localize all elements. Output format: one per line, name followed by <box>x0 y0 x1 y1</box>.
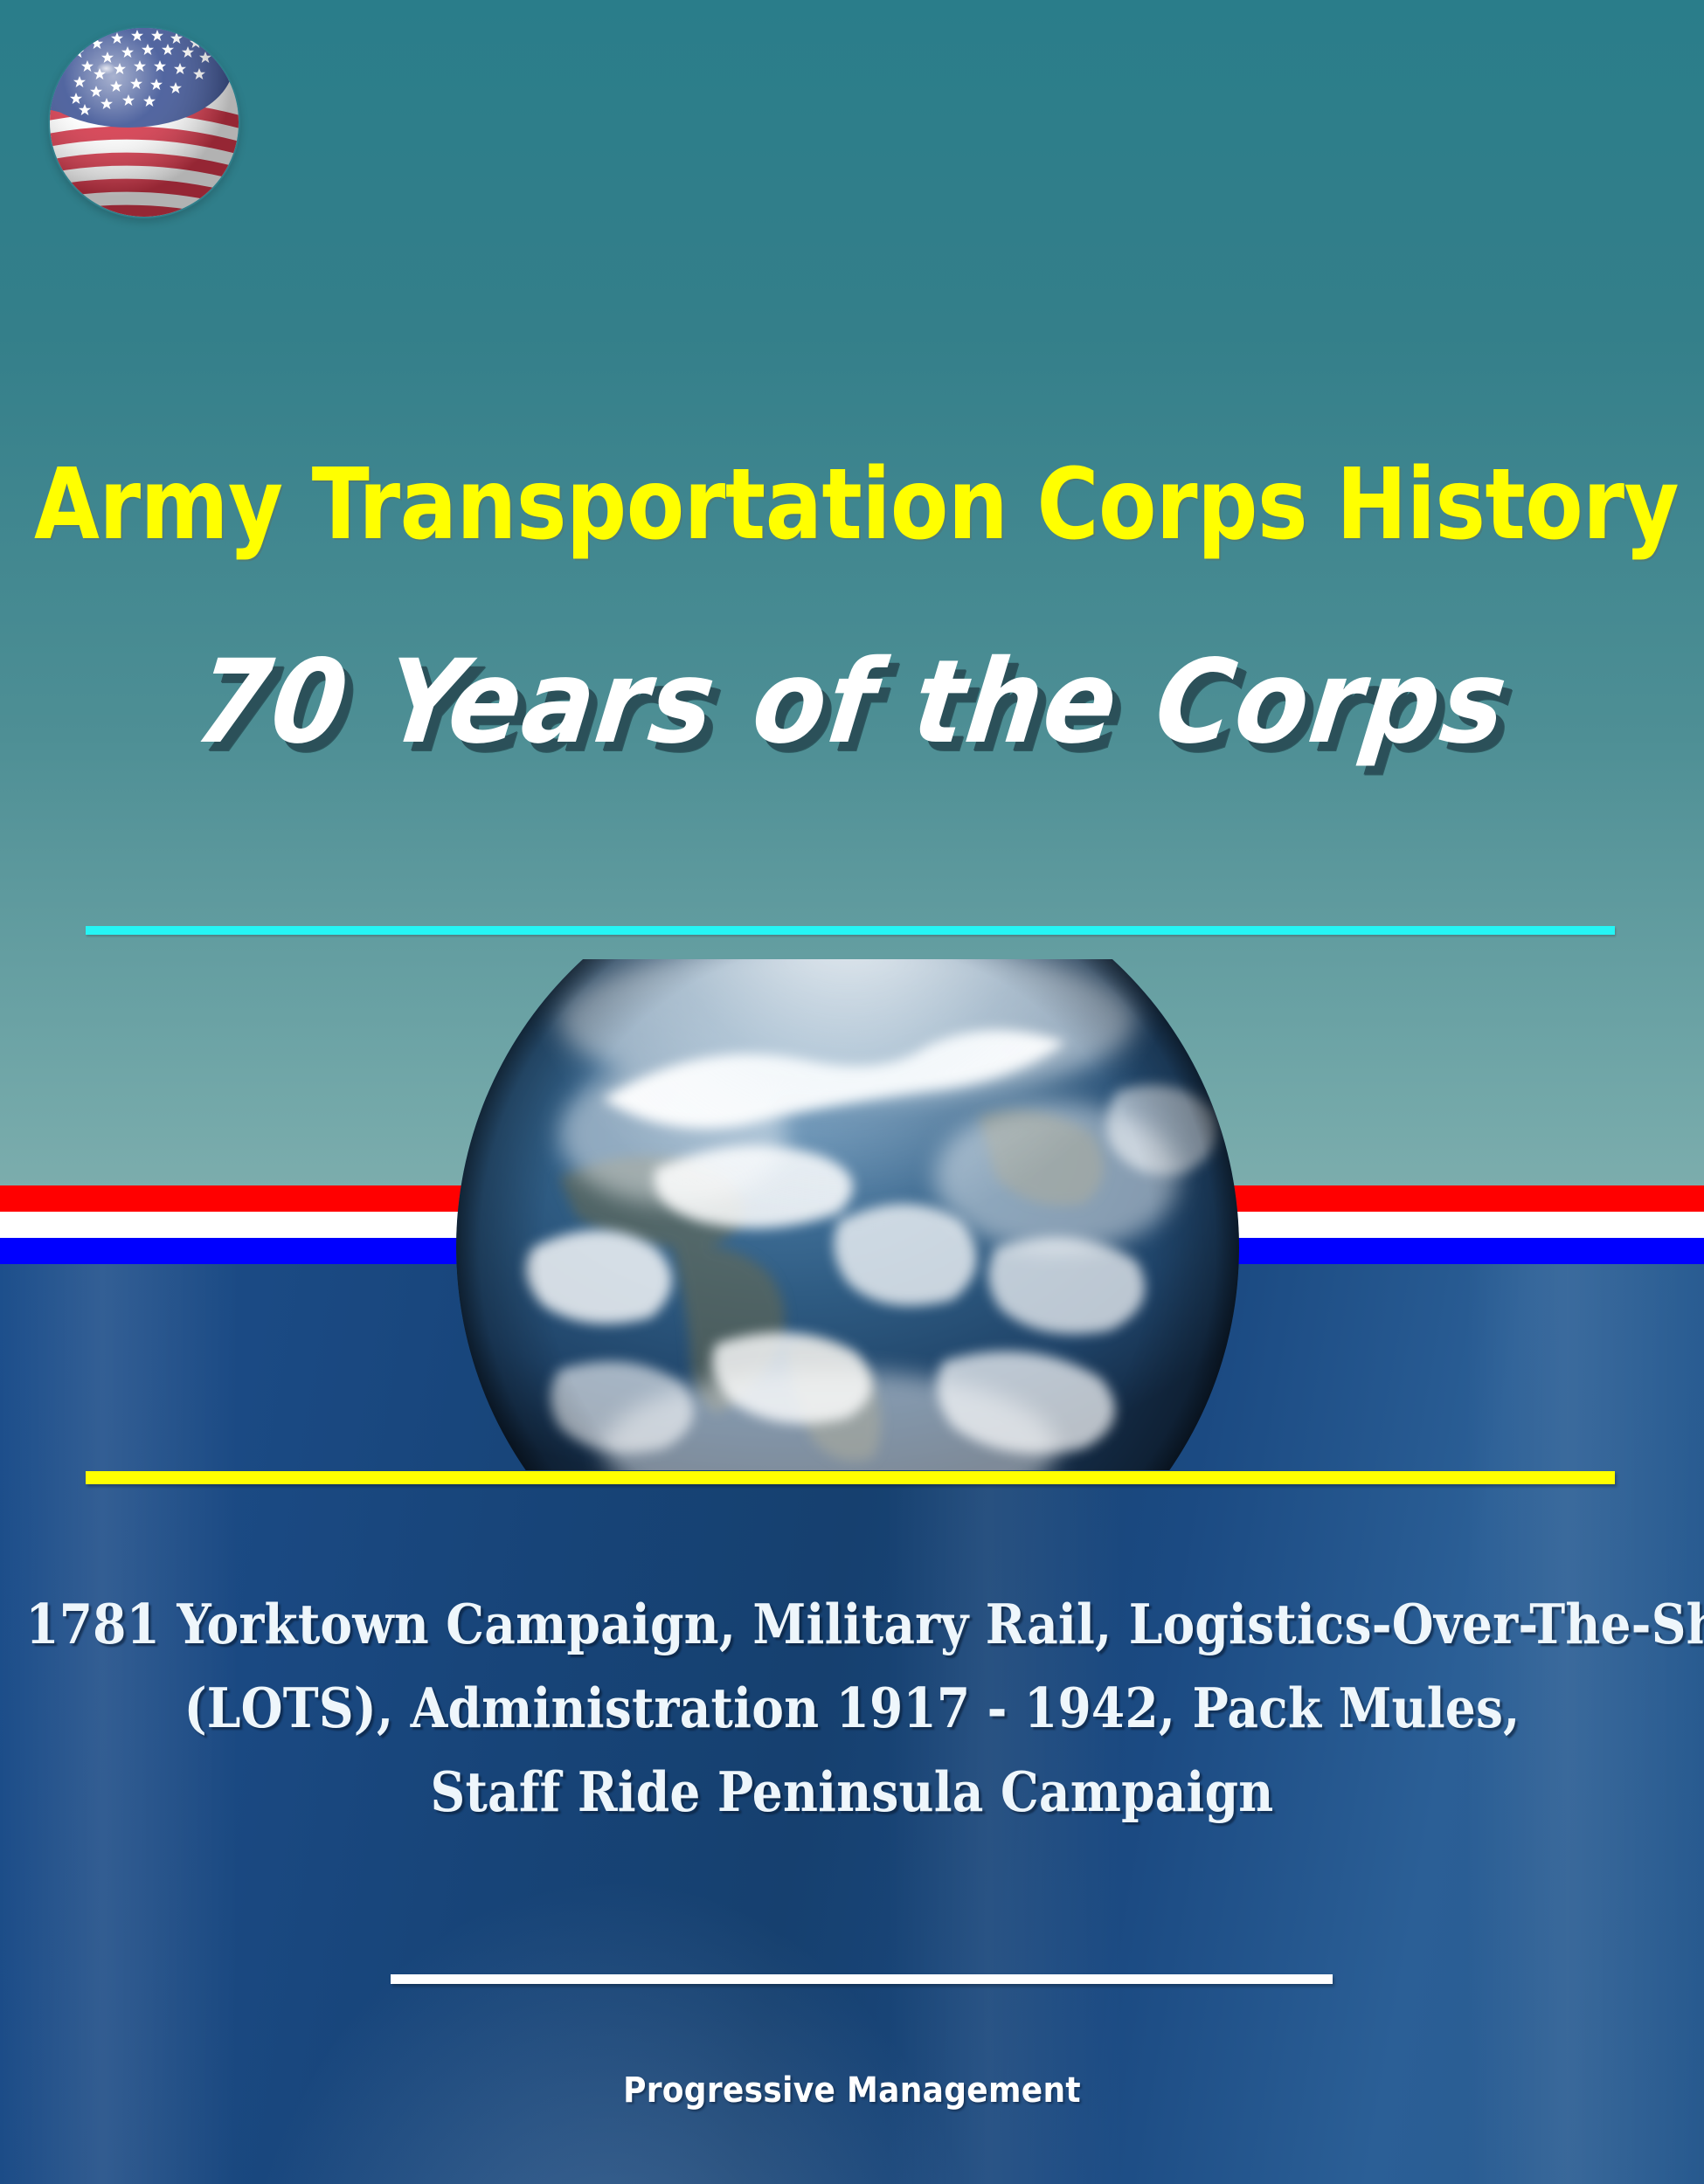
description-line-1: 1781 Yorktown Campaign, Military Rail, L… <box>25 1583 1679 1667</box>
publisher-name: Progressive Management <box>0 2070 1704 2111</box>
cyan-divider-rule <box>86 926 1615 935</box>
page-title: Army Transportation Corps History <box>34 456 1670 554</box>
description-block: 1781 Yorktown Campaign, Military Rail, L… <box>0 1583 1704 1834</box>
description-line-3: Staff Ride Peninsula Campaign <box>25 1751 1679 1835</box>
earth-globe-image <box>454 959 1241 1470</box>
white-divider-rule <box>391 1974 1333 1984</box>
description-line-2: (LOTS), Administration 1917 - 1942, Pack… <box>25 1667 1679 1751</box>
us-flag-sphere-icon <box>48 26 240 218</box>
page-subtitle: 70 Years of the Corps <box>0 645 1704 760</box>
book-cover: Army Transportation Corps History 70 Yea… <box>0 0 1704 2184</box>
yellow-divider-rule <box>86 1471 1615 1484</box>
